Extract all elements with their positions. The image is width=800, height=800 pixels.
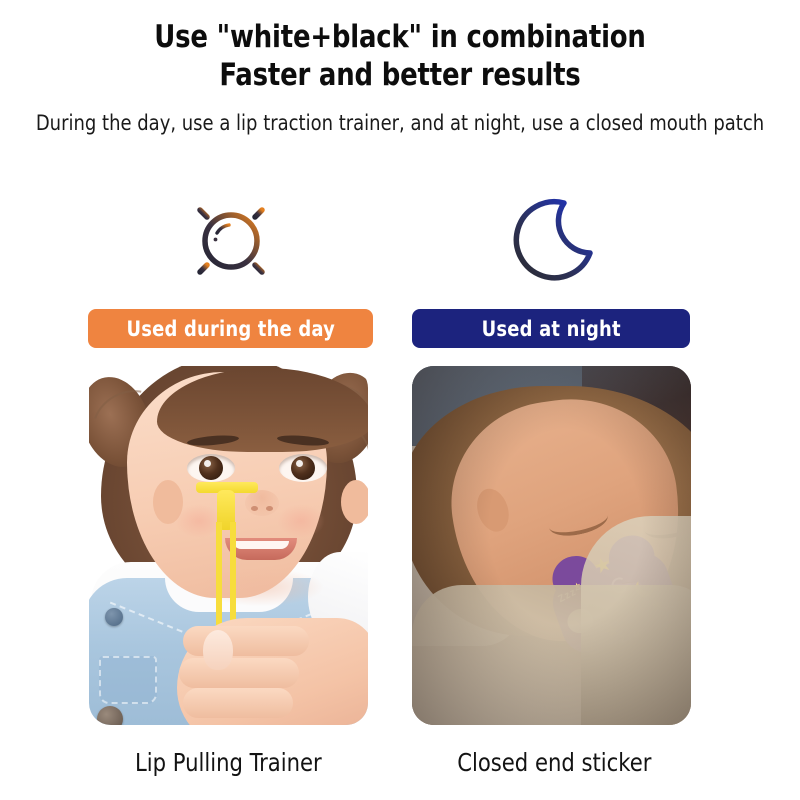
headline-line-1: Use "white+black" in combination <box>28 18 772 56</box>
caption-day: Lip Pulling Trainer <box>78 748 378 777</box>
finger <box>179 658 299 688</box>
eye-right <box>279 454 327 482</box>
iris-left <box>199 456 223 480</box>
moon-icon-slot <box>402 186 702 296</box>
sun-icon <box>179 189 283 293</box>
photo-card-night[interactable]: ★ ★ ★ ★ ★ Zzz~ Zzz~ <box>412 366 691 725</box>
sun-icon-slot <box>81 186 381 296</box>
finger <box>183 688 293 718</box>
nostril-right <box>266 506 273 511</box>
promo-page: Use "white+black" in combination Faster … <box>0 0 800 800</box>
nose <box>245 490 279 516</box>
headline-block: Use "white+black" in combination Faster … <box>0 18 800 94</box>
tag-day-label: Used during the day <box>126 317 334 341</box>
day-scene <box>89 366 368 725</box>
thumbnail <box>203 630 233 670</box>
subheading: During the day, use a lip traction train… <box>28 110 772 138</box>
vignette-overlay <box>412 366 691 725</box>
eye-left <box>187 454 235 482</box>
denim-button <box>97 706 123 725</box>
denim-pocket <box>99 656 157 704</box>
nostril-left <box>251 506 258 511</box>
caption-night-text: Closed end sticker <box>457 748 651 777</box>
caption-night: Closed end sticker <box>404 748 704 777</box>
denim-button <box>105 608 123 626</box>
hand-holding-trainer <box>177 618 368 725</box>
tag-used-during-the-day[interactable]: Used during the day <box>88 309 373 348</box>
iris-right <box>291 456 315 480</box>
hair-fringe <box>157 368 368 452</box>
icon-row <box>0 186 800 296</box>
photo-card-day[interactable] <box>89 366 368 725</box>
caption-day-text: Lip Pulling Trainer <box>135 748 322 777</box>
ear-right <box>341 480 368 524</box>
tag-night-label: Used at night <box>481 317 620 341</box>
headline-line-2: Faster and better results <box>28 56 772 94</box>
finger <box>183 626 309 656</box>
moon-icon <box>502 191 602 291</box>
cheek-right <box>277 504 325 538</box>
tag-used-at-night[interactable]: Used at night <box>412 309 690 348</box>
night-scene: ★ ★ ★ ★ ★ Zzz~ Zzz~ <box>412 366 691 725</box>
